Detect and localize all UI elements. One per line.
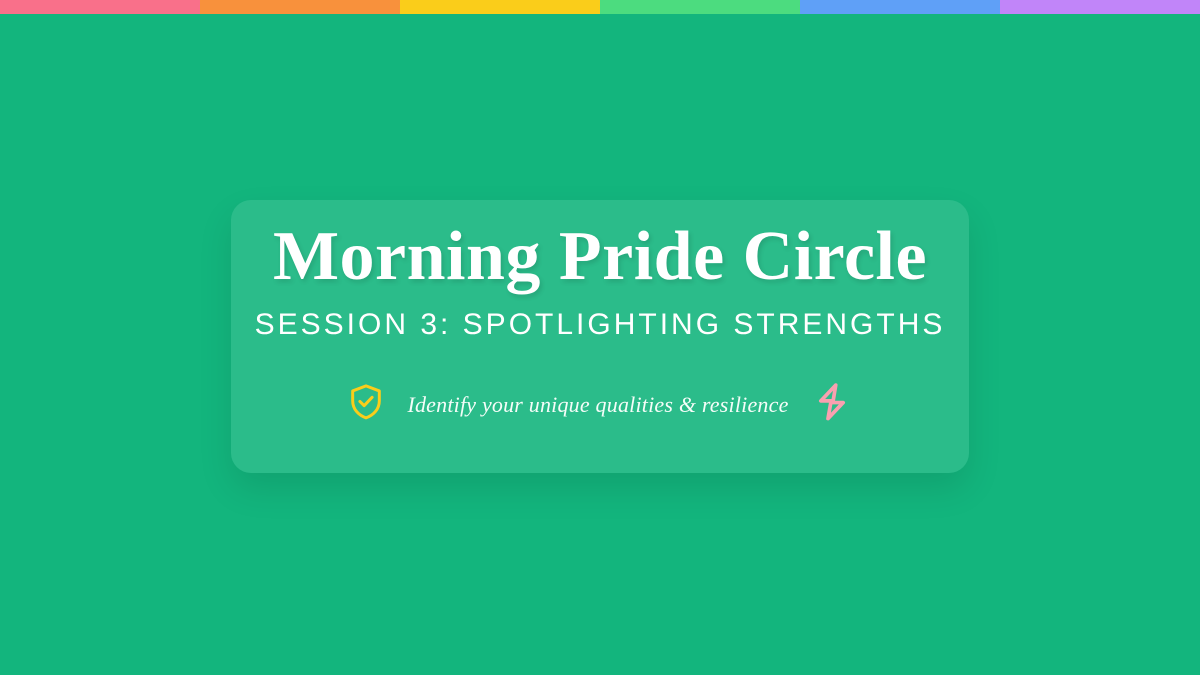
stripe-orange: [200, 0, 400, 14]
stripe-blue: [800, 0, 1000, 14]
stripe-yellow: [400, 0, 600, 14]
stripe-purple: [1000, 0, 1200, 14]
page-title: Morning Pride Circle: [273, 222, 927, 292]
stripe-green: [600, 0, 800, 14]
shield-check-icon: [349, 383, 383, 426]
tagline-row: Identify your unique qualities & resilie…: [349, 382, 850, 427]
slide-stage: Morning Pride Circle SESSION 3: SPOTLIGH…: [0, 14, 1200, 675]
session-subtitle: SESSION 3: SPOTLIGHTING STRENGTHS: [255, 310, 946, 340]
pride-flag-stripe: [0, 0, 1200, 14]
tagline-text: Identify your unique qualities & resilie…: [407, 394, 788, 416]
stripe-pink: [0, 0, 200, 14]
title-card: Morning Pride Circle SESSION 3: SPOTLIGH…: [231, 200, 969, 473]
lightning-bolt-icon: [813, 382, 851, 427]
